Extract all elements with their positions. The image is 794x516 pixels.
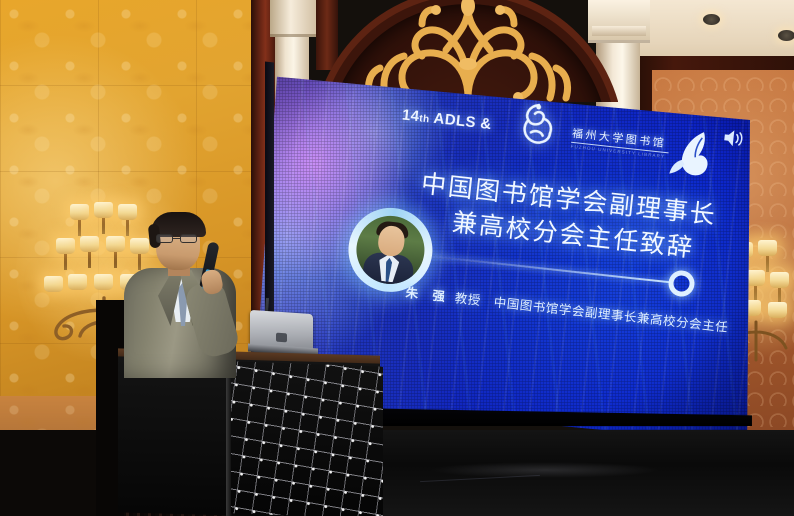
sconce-arm	[114, 252, 117, 268]
sconce-arm	[64, 254, 67, 270]
lamp-shade-icon	[44, 276, 63, 292]
sconce-arm	[102, 218, 105, 234]
podium-quilted-panel	[231, 361, 383, 516]
lamp-shade-icon	[94, 274, 113, 290]
lamp-shade-icon	[746, 270, 765, 286]
volume-speaker-icon[interactable]	[720, 125, 746, 151]
dolphin-mark-icon	[668, 125, 715, 181]
sconce-arm	[88, 252, 91, 268]
lamp-shade-icon	[70, 204, 89, 220]
floor-reflection	[430, 462, 660, 478]
event-logo-suffix: th	[419, 113, 430, 125]
presenter	[118, 212, 250, 372]
lamp-shade-icon	[758, 240, 777, 256]
adls-swirl-mark-icon	[513, 99, 562, 149]
hp-laptop-logo-icon	[276, 333, 287, 343]
speaker-name: 朱 强	[405, 285, 451, 305]
conference-photo: 14th ADLS & 福州大学图书馆 FUZHOU UNIVERSITY LI…	[0, 0, 794, 516]
lamp-shade-icon	[770, 272, 789, 288]
lamp-shade-icon	[68, 274, 87, 290]
lamp-shade-icon	[80, 236, 99, 252]
sconce-arm	[766, 256, 769, 272]
event-logo: 14th ADLS &	[401, 106, 492, 133]
event-logo-number: 14	[401, 106, 420, 125]
event-logo-name: ADLS &	[433, 110, 493, 133]
lamp-shade-icon	[768, 302, 787, 318]
lamp-shade-icon	[94, 202, 113, 218]
sconce-arm	[78, 220, 81, 236]
glasses-bridge	[173, 238, 180, 239]
slide-title: 中国图书馆学会副理事长 兼高校分会主任致辞	[404, 166, 730, 269]
speaker-description: 中国图书馆学会副理事长兼高校分会主任	[493, 294, 729, 334]
crystal-buttons	[231, 361, 383, 516]
lamp-shade-icon	[56, 238, 75, 254]
lens-left	[156, 234, 173, 243]
hp-laptop	[250, 312, 318, 356]
eyeglasses-icon	[156, 234, 202, 243]
decorative-ring	[667, 269, 696, 298]
speaker-honorific: 教授	[454, 290, 482, 308]
university-logo: 福州大学图书馆 FUZHOU UNIVERSITY LIBRARY	[569, 123, 701, 177]
column-capital	[270, 0, 316, 37]
lens-right	[180, 234, 197, 243]
ceiling-spotlight-icon	[703, 14, 720, 25]
ceiling-spotlight-icon	[778, 30, 794, 41]
